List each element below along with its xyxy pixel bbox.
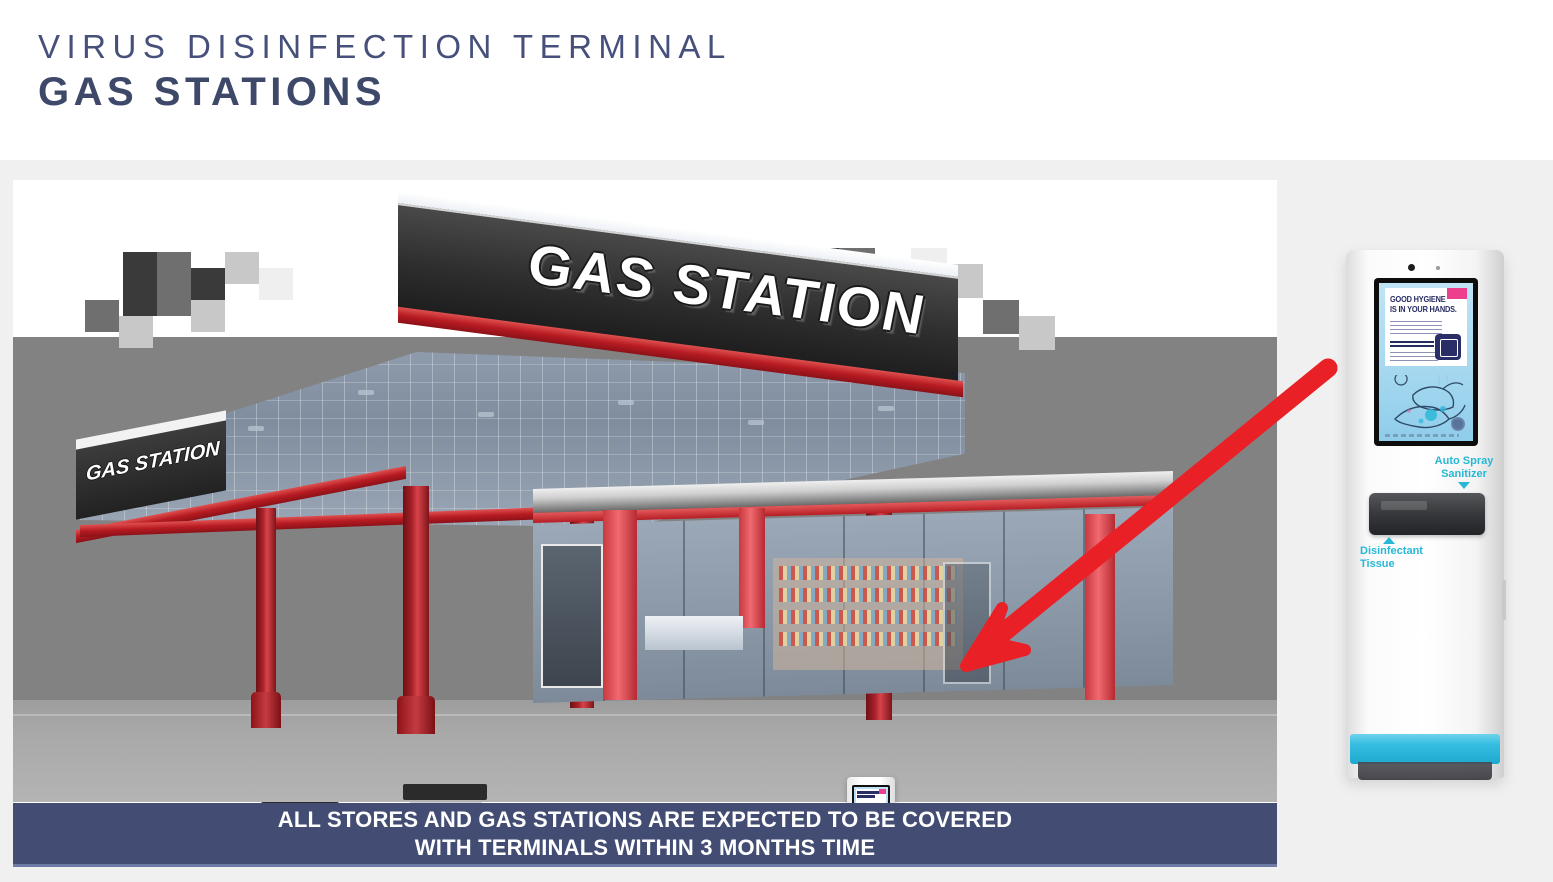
canopy-light — [358, 390, 374, 395]
shelf-products — [779, 588, 957, 602]
kiosk-disinfectant-tissue-label: Disinfectant Tissue — [1360, 545, 1440, 571]
store-back-door — [943, 562, 991, 684]
kiosk-floor-foot — [1358, 762, 1492, 780]
chevron-up-icon — [1383, 537, 1395, 544]
kiosk-screen-bezel: GOOD HYGIENE IS IN YOUR HANDS. — [1374, 278, 1478, 446]
shelf-products — [779, 610, 957, 624]
window-mullion — [1003, 512, 1005, 690]
kiosk-poster-badge-inner — [1440, 339, 1458, 357]
store-column — [739, 508, 765, 628]
kiosk-dispenser-slot[interactable] — [1369, 493, 1485, 535]
kiosk-headline-bar-small — [857, 791, 879, 794]
shelf-products — [779, 566, 957, 580]
page-header: VIRUS DISINFECTION TERMINAL GAS STATIONS — [0, 0, 1553, 160]
kiosk-poster-badge — [1435, 334, 1461, 360]
kiosk-auto-spray-label: Auto Spray Sanitizer — [1424, 455, 1504, 481]
kiosk-headline-line2: IS IN YOUR HANDS. — [1390, 305, 1457, 314]
convenience-store — [533, 480, 1173, 715]
kiosk-poster-bodytext — [1390, 318, 1442, 334]
canopy-light — [748, 420, 764, 425]
kiosk-sensor-icon — [1436, 266, 1440, 270]
kiosk-headline-bar-small — [857, 795, 875, 798]
canopy-light — [248, 426, 264, 431]
canopy-light — [878, 406, 894, 411]
kiosk-poster-tag — [1447, 288, 1467, 299]
gas-station-illustration-panel: GAS STATION GAS STATION — [13, 180, 1277, 864]
kiosk-poster-card: GOOD HYGIENE IS IN YOUR HANDS. — [1385, 288, 1467, 366]
store-entrance-door — [541, 544, 603, 688]
chevron-down-icon — [1458, 482, 1470, 489]
kiosk-tissue-label-line1: Disinfectant — [1360, 545, 1423, 557]
canopy-light — [478, 412, 494, 417]
window-mullion — [683, 521, 685, 699]
shelf-products — [779, 632, 957, 646]
page-eyebrow-title: VIRUS DISINFECTION TERMINAL — [38, 28, 732, 66]
store-counter — [645, 616, 743, 650]
canopy-light — [618, 400, 634, 405]
kiosk-poster-tag-small — [879, 789, 886, 794]
kiosk-slot-highlight — [1381, 501, 1427, 510]
page-title: GAS STATIONS — [38, 70, 386, 115]
kiosk-headline-line1: GOOD HYGIENE — [1390, 295, 1445, 304]
dispenser-canopy — [403, 784, 487, 800]
caption-line-2: WITH TERMINALS WITHIN 3 MONTHS TIME — [415, 834, 875, 862]
caption-banner: ALL STORES AND GAS STATIONS ARE EXPECTED… — [13, 803, 1277, 867]
disinfection-terminal-kiosk[interactable]: GOOD HYGIENE IS IN YOUR HANDS. — [1346, 250, 1504, 790]
column-base — [251, 692, 281, 728]
kiosk-side-detail — [1502, 580, 1506, 620]
kiosk-auto-spray-label-line1: Auto Spray — [1435, 455, 1494, 467]
kiosk-tissue-label-line2: Tissue — [1360, 558, 1395, 570]
kiosk-poster-subhead — [1390, 340, 1434, 347]
kiosk-base — [1350, 734, 1500, 764]
kiosk-camera-icon — [1408, 264, 1415, 271]
column-base — [397, 696, 435, 734]
kiosk-screen[interactable]: GOOD HYGIENE IS IN YOUR HANDS. — [1379, 283, 1473, 441]
kiosk-poster-footer — [1385, 434, 1459, 437]
store-column — [1085, 514, 1115, 700]
store-column — [603, 510, 637, 700]
kiosk-auto-spray-label-line2: Sanitizer — [1441, 468, 1487, 480]
caption-line-1: ALL STORES AND GAS STATIONS ARE EXPECTED… — [278, 806, 1012, 834]
kiosk-poster-bodytext — [1390, 350, 1438, 361]
kiosk-poster-logo — [1451, 417, 1465, 431]
